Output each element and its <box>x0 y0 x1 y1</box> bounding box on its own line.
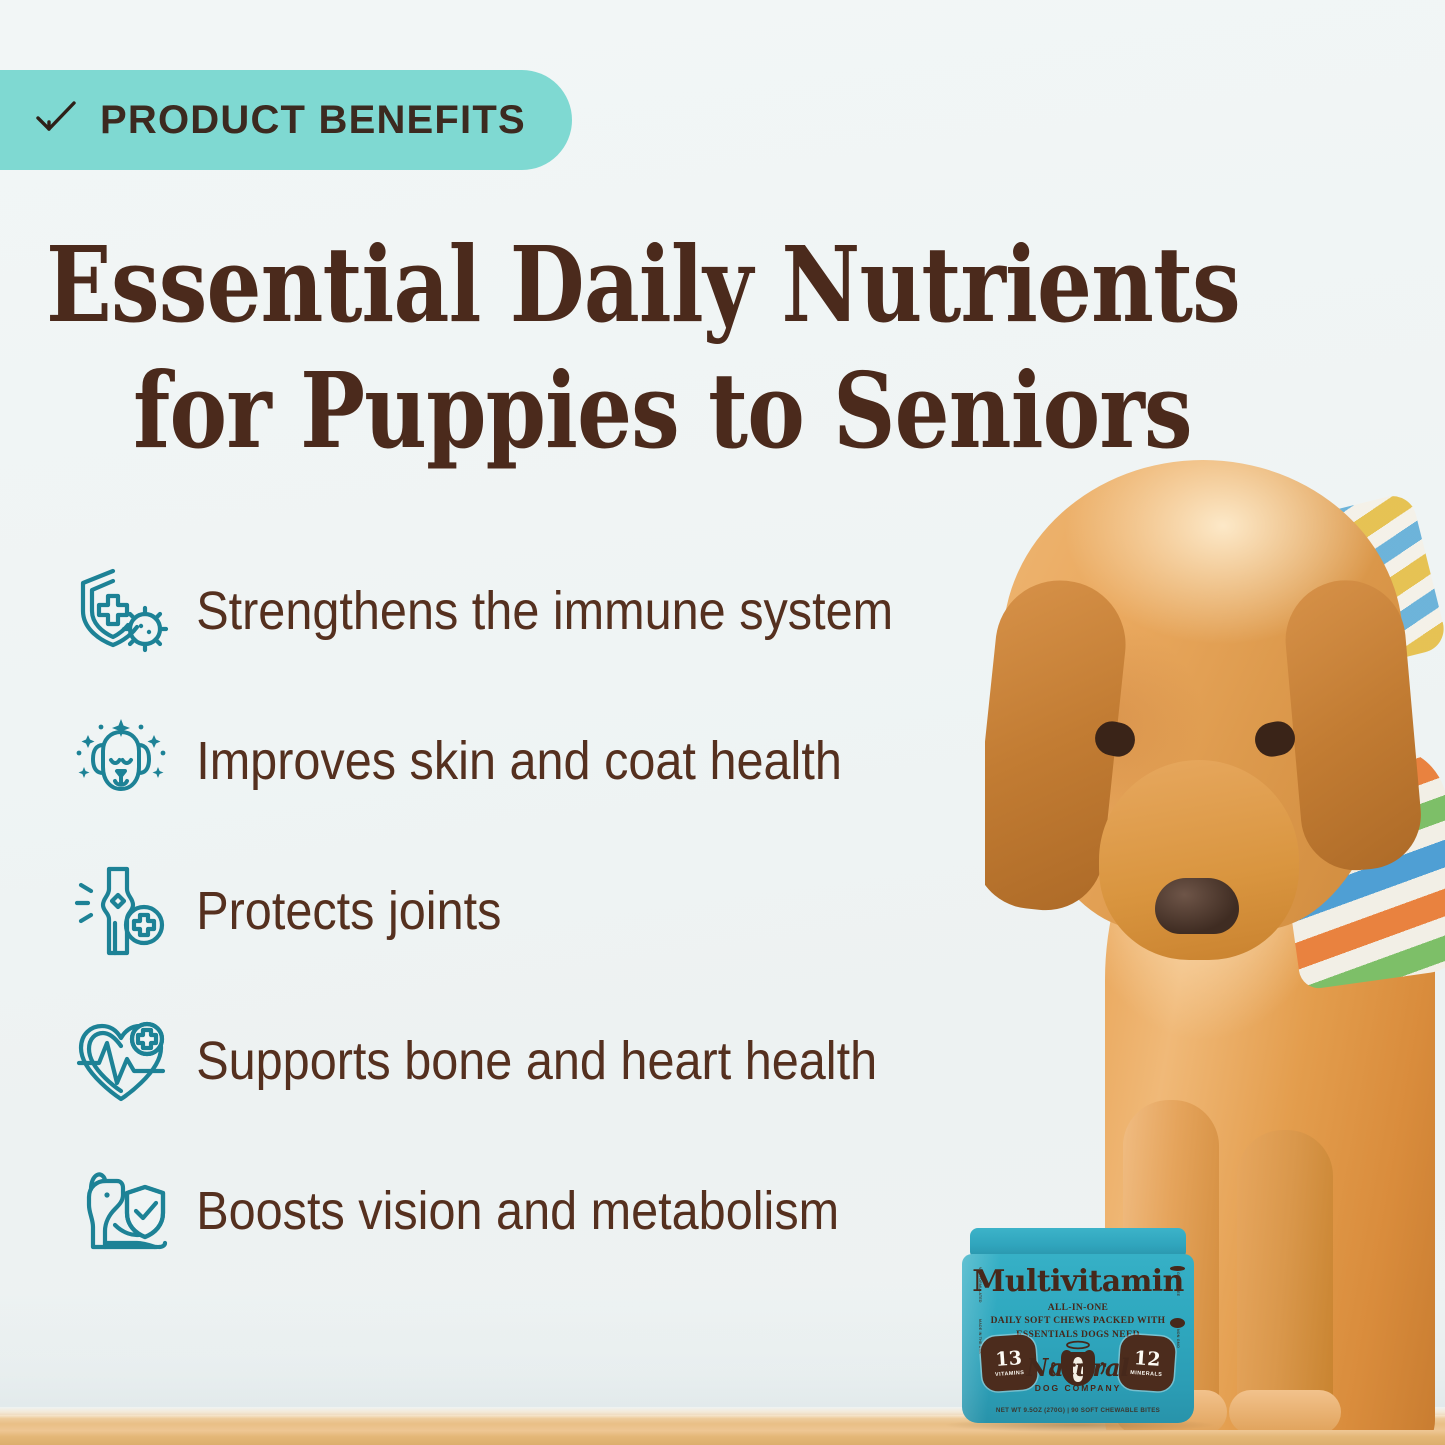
product-subtitle-line-1: ALL-IN-ONE <box>986 1302 1170 1315</box>
jar-lid <box>970 1228 1186 1256</box>
check-icon <box>34 98 78 143</box>
dog-eye-right <box>1252 718 1298 760</box>
net-weight-text: NET WT 9.5OZ (270G) | 90 SOFT CHEWABLE B… <box>962 1407 1194 1414</box>
heart-pulse-cross-icon <box>62 1009 180 1113</box>
benefit-item-bone-heart: Supports bone and heart health <box>62 986 1042 1136</box>
seal-mark <box>1170 1318 1185 1328</box>
headline-line-1: Essential Daily Nutrients <box>46 222 1183 348</box>
product-jar: VET FORMULATED MADE IN THE USA GRAIN FRE… <box>962 1228 1194 1423</box>
product-subtitle-line-2: DAILY SOFT CHEWS PACKED WITH <box>986 1315 1170 1328</box>
benefit-label: Supports bone and heart health <box>180 1033 877 1090</box>
benefit-label: Strengthens the immune system <box>180 583 893 640</box>
dog-face-sparkle-icon <box>62 709 180 813</box>
product-benefits-label: PRODUCT BENEFITS <box>100 98 526 143</box>
benefit-label: Boosts vision and metabolism <box>180 1183 839 1240</box>
product-name: Multivitamin <box>962 1264 1194 1299</box>
benefit-item-skin-coat: Improves skin and coat health <box>62 686 1042 836</box>
dog-paw-right <box>1229 1390 1341 1430</box>
benefit-item-joints: Protects joints <box>62 836 1042 986</box>
headline-line-2: for Puppies to Seniors <box>46 348 1183 474</box>
dog-head <box>1003 460 1403 930</box>
bone-joint-cross-icon <box>62 859 180 963</box>
brand-block: Natural DOG COMPANY <box>962 1356 1194 1393</box>
infographic-canvas: PRODUCT BENEFITS Essential Daily Nutrien… <box>0 0 1445 1445</box>
benefits-list: Strengthens the immune system <box>62 536 1042 1286</box>
benefit-item-vision-metabolism: Boosts vision and metabolism <box>62 1136 1042 1286</box>
dog-shield-check-icon <box>62 1159 180 1263</box>
dog-nose <box>1155 878 1239 934</box>
benefit-label: Protects joints <box>180 883 501 940</box>
brand-name: Natural <box>962 1356 1194 1380</box>
dog-front-leg-right <box>1237 1130 1333 1430</box>
page-title: Essential Daily Nutrients for Puppies to… <box>46 222 1183 474</box>
shield-cross-virus-icon <box>62 559 180 663</box>
brand-tagline: DOG COMPANY <box>962 1383 1194 1393</box>
benefit-label: Improves skin and coat health <box>180 733 842 790</box>
benefit-item-immune: Strengthens the immune system <box>62 536 1042 686</box>
product-benefits-badge: PRODUCT BENEFITS <box>0 70 572 170</box>
jar-body: VET FORMULATED MADE IN THE USA GRAIN FRE… <box>962 1254 1194 1423</box>
